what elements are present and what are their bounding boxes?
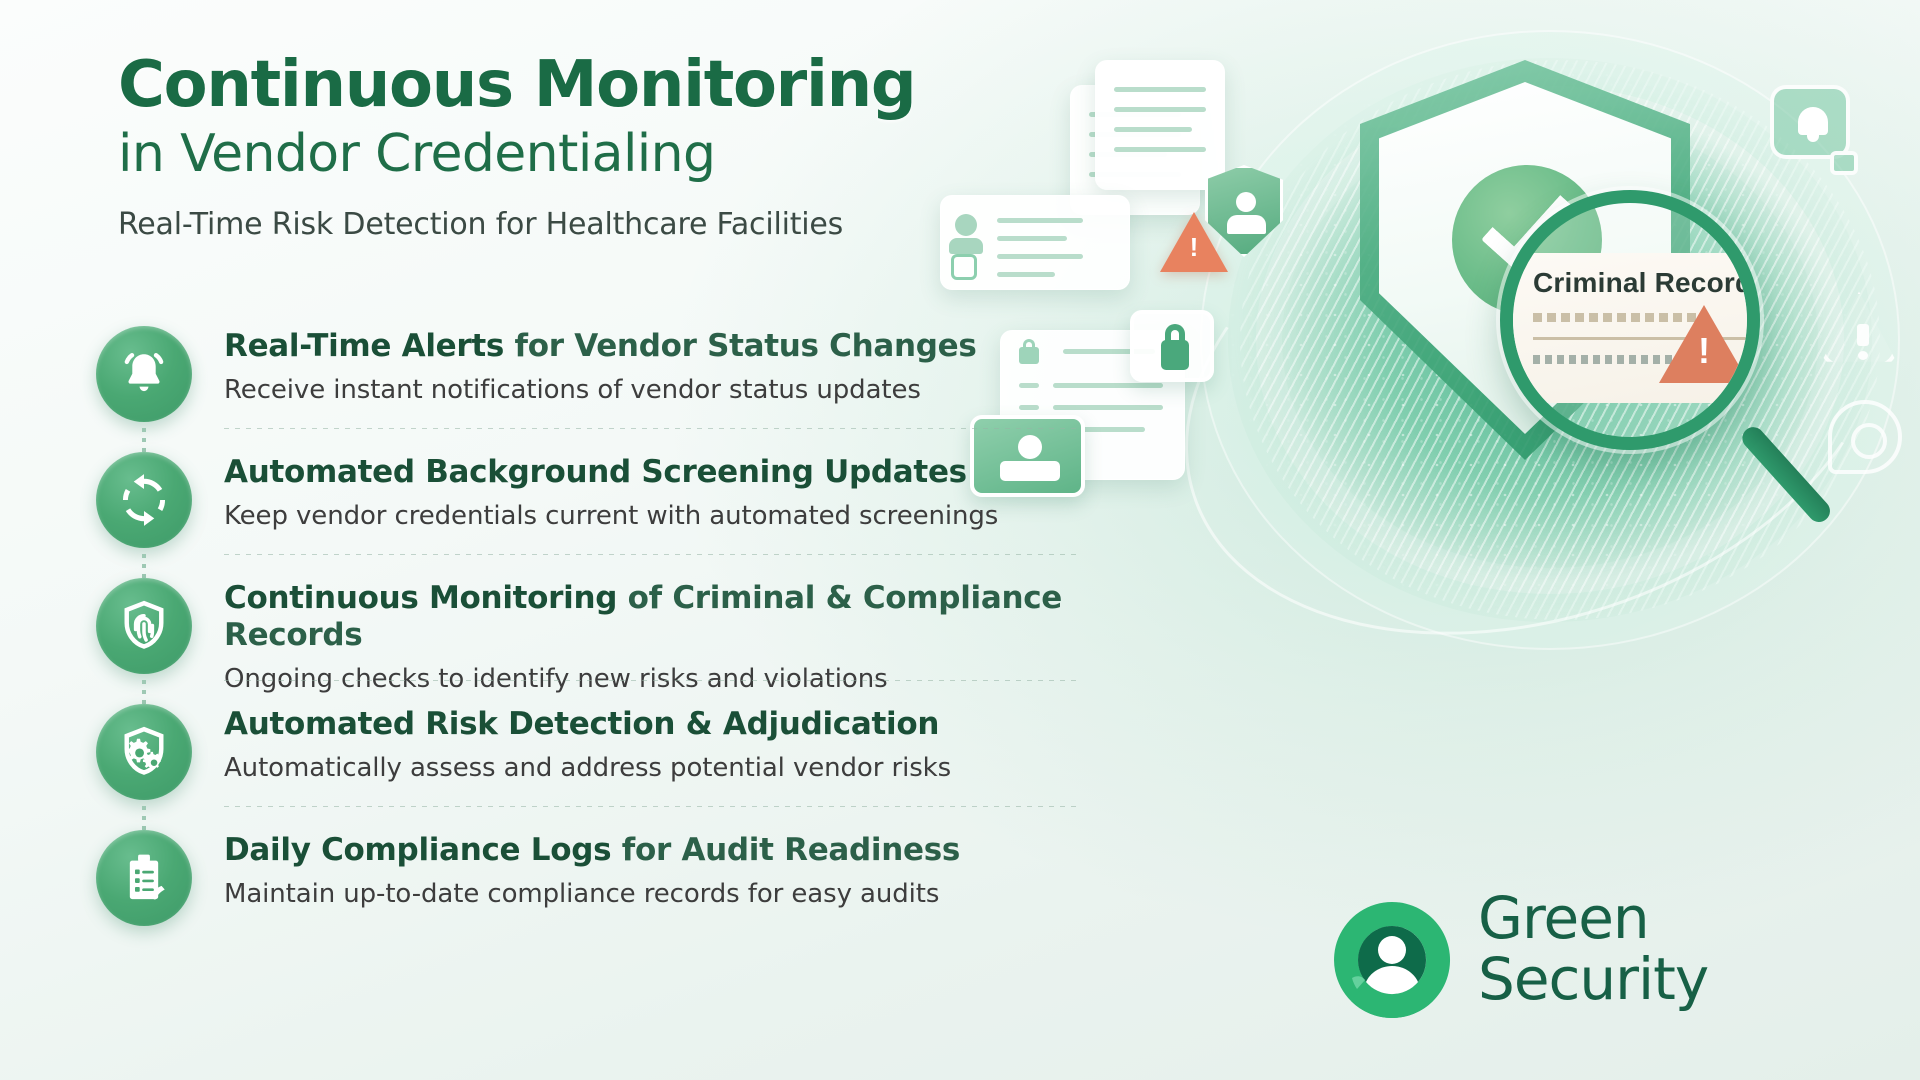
feature-heading-strong: Real-Time Alerts (224, 328, 504, 364)
outline-target-icon (1828, 400, 1902, 474)
page-title-line-1: Continuous Monitoring (118, 52, 1138, 119)
shield-gears-icon (96, 704, 192, 800)
record-warning-icon (1659, 305, 1749, 383)
green-security-logo-icon (1326, 894, 1458, 1026)
page-subtitle: Real-Time Risk Detection for Healthcare … (118, 205, 1138, 244)
feature-item: Automated Background Screening Updates K… (96, 444, 1136, 570)
alert-warning-icon (1160, 212, 1228, 272)
shield-fingerprint-icon (96, 578, 192, 674)
brand-logo: Green Security (1326, 892, 1796, 1032)
feature-divider (224, 680, 1080, 681)
feature-heading-rest: for Vendor Status Changes (504, 328, 977, 364)
feature-divider (224, 428, 1080, 429)
brand-logo-text: Green Security (1478, 888, 1708, 1011)
feature-heading-strong: Automated Risk Detection & Adjudication (224, 706, 939, 742)
page-title-line-2: in Vendor Credentialing (118, 125, 1138, 183)
feature-divider (224, 554, 1080, 555)
padlock-icon (1130, 310, 1214, 382)
magnifier-lens: Criminal Record (1500, 190, 1760, 450)
feature-heading: Automated Risk Detection & Adjudication (224, 706, 1136, 743)
security-illustration: Criminal Record (1080, 0, 1920, 700)
feature-description: Keep vendor credentials current with aut… (224, 500, 1136, 533)
feature-heading: Automated Background Screening Updates (224, 454, 1136, 491)
feature-text: Daily Compliance Logs for Audit Readines… (224, 832, 1136, 911)
feature-description: Receive instant notifications of vendor … (224, 374, 1136, 407)
bell-icon (96, 326, 192, 422)
criminal-record-label: Criminal Record (1533, 269, 1752, 297)
brand-name-line-1: Green (1478, 888, 1708, 949)
feature-text: Automated Background Screening Updates K… (224, 454, 1136, 533)
feature-divider (224, 806, 1080, 807)
notification-bell-icon (1770, 85, 1850, 159)
infographic-canvas: Criminal Record Continuous Monitoring in… (0, 0, 1920, 1080)
feature-text: Real-Time Alerts for Vendor Status Chang… (224, 328, 1136, 407)
brand-name-line-2: Security (1478, 949, 1708, 1010)
feature-text: Automated Risk Detection & Adjudication … (224, 706, 1136, 785)
page-header: Continuous Monitoring in Vendor Credenti… (118, 52, 1138, 244)
feature-item: Automated Risk Detection & Adjudication … (96, 696, 1136, 822)
feature-list: Real-Time Alerts for Vendor Status Chang… (96, 318, 1136, 942)
feature-heading: Daily Compliance Logs for Audit Readines… (224, 832, 1136, 869)
feature-heading-strong: Continuous Monitoring (224, 580, 617, 616)
feature-heading: Continuous Monitoring of Criminal & Comp… (224, 580, 1136, 654)
feature-description: Maintain up-to-date compliance records f… (224, 878, 1136, 911)
sync-arrows-icon (96, 452, 192, 548)
feature-item: Real-Time Alerts for Vendor Status Chang… (96, 318, 1136, 444)
feature-heading: Real-Time Alerts for Vendor Status Chang… (224, 328, 1136, 365)
feature-item: Continuous Monitoring of Criminal & Comp… (96, 570, 1136, 696)
clipboard-check-icon (96, 830, 192, 926)
feature-text: Continuous Monitoring of Criminal & Comp… (224, 580, 1136, 696)
feature-item: Daily Compliance Logs for Audit Readines… (96, 822, 1136, 942)
feature-heading-rest: for Audit Readiness (611, 832, 960, 868)
feature-description: Automatically assess and address potenti… (224, 752, 1136, 785)
feature-heading-strong: Automated Background Screening Updates (224, 454, 967, 490)
criminal-record-card: Criminal Record (1507, 253, 1760, 403)
feature-heading-strong: Daily Compliance Logs (224, 832, 611, 868)
